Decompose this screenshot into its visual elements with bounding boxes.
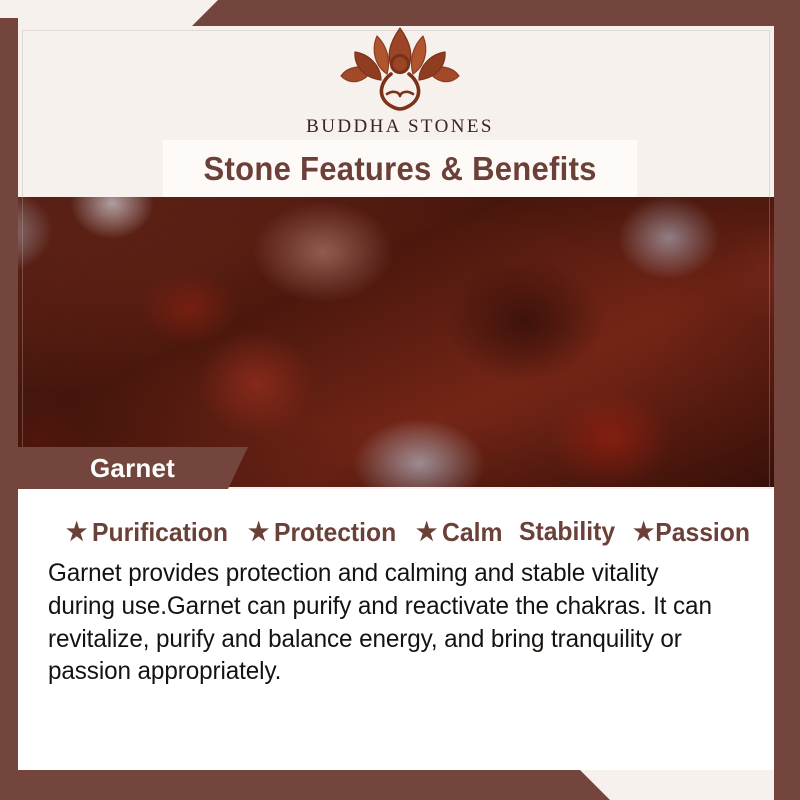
stone-info-card: BUDDHA STONES Stone Features & Benefits …	[0, 0, 800, 800]
star-icon: ★	[66, 520, 87, 545]
benefit-label: Stability	[519, 516, 615, 547]
brand-name: BUDDHA STONES	[306, 116, 494, 138]
star-icon: ★	[633, 520, 654, 545]
title-banner: Stone Features & Benefits	[163, 140, 637, 197]
benefit-item: ★Passion	[633, 517, 750, 548]
star-icon: ★	[248, 520, 269, 545]
benefit-label: Protection	[274, 517, 396, 548]
star-icon: ★	[416, 520, 437, 545]
stone-name: Garnet	[90, 453, 175, 484]
stone-description-panel: ★Purification★Protection★Calm★Stability★…	[18, 489, 774, 770]
benefit-label: Purification	[92, 517, 228, 548]
page-title: Stone Features & Benefits	[203, 150, 596, 188]
photo-vignette	[0, 197, 800, 487]
lotus-meditation-icon	[325, 22, 475, 114]
benefit-label: Calm	[442, 517, 502, 548]
benefit-label: Passion	[655, 517, 750, 548]
benefit-item: ★Stability	[519, 516, 615, 547]
benefit-item: ★Calm	[416, 517, 502, 548]
brand-logo: BUDDHA STONES	[0, 22, 800, 142]
benefit-list: ★Purification★Protection★Calm★Stability★…	[66, 516, 752, 548]
stone-name-banner: Garnet	[0, 447, 248, 489]
garnet-photo	[0, 197, 800, 487]
frame-bottom-bar	[0, 770, 800, 800]
benefit-item: ★Purification	[66, 517, 228, 548]
stone-description: Garnet provides protection and calming a…	[48, 557, 731, 688]
benefit-item: ★Protection	[248, 517, 396, 548]
